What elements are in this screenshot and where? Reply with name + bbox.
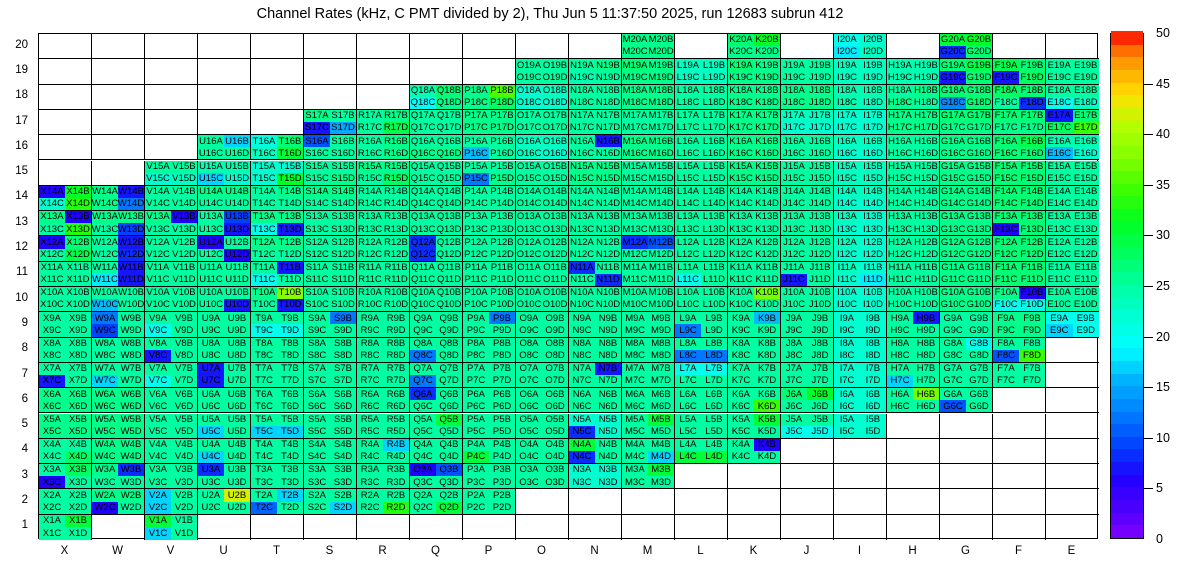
- heatmap-cell: F15AF15BF15CF15D: [993, 161, 1046, 186]
- channel-p14c: P14C: [463, 198, 489, 210]
- heatmap-cell: K7AK7BK7CK7D: [728, 363, 781, 388]
- channel-n5c: N5C: [569, 426, 595, 438]
- channel-r10c: R10C: [357, 299, 383, 311]
- channel-f18d: F18D: [1019, 97, 1045, 109]
- heatmap-cell: J15AJ15BJ15CJ15D: [781, 161, 834, 186]
- channel-n11d: N11D: [595, 274, 621, 286]
- colorbar-segment: [1111, 170, 1143, 184]
- channel-k19c: K19C: [728, 71, 754, 83]
- heatmap-cell: [887, 464, 940, 489]
- channel-n8c: N8C: [569, 350, 595, 362]
- heatmap-cell: M15AM15BM15CM15D: [622, 161, 675, 186]
- channel-g16d: G16D: [966, 147, 992, 159]
- heatmap-cell: R15AR15BR15CR15D: [357, 161, 410, 186]
- channel-p10d: P10D: [489, 299, 515, 311]
- channel-r9b: R9B: [383, 312, 409, 324]
- channel-r14b: R14B: [383, 186, 409, 198]
- heatmap-cell: U13AU13BU13CU13D: [198, 211, 251, 236]
- heatmap-cell: I20AI20BI20CI20D: [834, 34, 887, 59]
- channel-v4c: V4C: [145, 451, 171, 463]
- channel-u5c: U5C: [198, 426, 224, 438]
- channel-s11c: S11C: [304, 274, 330, 286]
- channel-u6b: U6B: [224, 388, 250, 400]
- channel-p9d: P9D: [489, 324, 515, 336]
- channel-n14b: N14B: [595, 186, 621, 198]
- channel-s3d: S3D: [330, 476, 356, 488]
- heatmap-cell: J7AJ7BJ7CJ7D: [781, 363, 834, 388]
- channel-h17d: H17D: [913, 122, 939, 134]
- channel-x3d: X3D: [65, 476, 91, 488]
- channel-r12a: R12A: [357, 236, 383, 248]
- channel-w13d: W13D: [118, 223, 144, 235]
- channel-f18b: F18B: [1019, 85, 1045, 97]
- heatmap-cell: [887, 515, 940, 540]
- y-tick-19: 19: [0, 64, 28, 76]
- channel-f7c: F7C: [993, 375, 1019, 387]
- channel-o11c: O11C: [516, 274, 542, 286]
- channel-l15b: L15B: [701, 161, 727, 173]
- heatmap-cell: U16AU16BU16CU16D: [198, 135, 251, 160]
- y-tick-13: 13: [0, 216, 28, 228]
- channel-u13a: U13A: [198, 211, 224, 223]
- heatmap-cell: J19AJ19BJ19CJ19D: [781, 59, 834, 84]
- heatmap-cell: [993, 515, 1046, 540]
- channel-v10c: V10C: [145, 299, 171, 311]
- colorbar-segment: [1111, 486, 1143, 500]
- channel-u3b: U3B: [224, 464, 250, 476]
- channel-k9c: K9C: [728, 324, 754, 336]
- channel-w14d: W14D: [118, 198, 144, 210]
- heatmap-cell: S4AS4BS4CS4D: [304, 439, 357, 464]
- channel-l11a: L11A: [675, 262, 701, 274]
- channel-j16b: J16B: [807, 135, 833, 147]
- channel-s4a: S4A: [304, 439, 330, 451]
- heatmap-cell: [728, 464, 781, 489]
- heatmap-cell: S6AS6BS6CS6D: [304, 388, 357, 413]
- channel-k11a: K11A: [728, 262, 754, 274]
- channel-s7c: S7C: [304, 375, 330, 387]
- channel-v1c: V1C: [145, 527, 171, 540]
- channel-t8d: T8D: [277, 350, 303, 362]
- channel-n14a: N14A: [569, 186, 595, 198]
- channel-p4b: P4B: [489, 439, 515, 451]
- channel-f15d: F15D: [1019, 173, 1045, 185]
- heatmap-cell: [675, 464, 728, 489]
- channel-j5b: J5B: [807, 414, 833, 426]
- heatmap-cell: S3AS3BS3CS3D: [304, 464, 357, 489]
- channel-e12b: E12B: [1073, 236, 1100, 248]
- channel-n15b: N15B: [595, 161, 621, 173]
- channel-g11b: G11B: [966, 262, 992, 274]
- channel-x5b: X5B: [65, 414, 91, 426]
- heatmap-cell: V5AV5BV5CV5D: [145, 414, 198, 439]
- channel-k17a: K17A: [728, 110, 754, 122]
- channel-t11d: T11D: [277, 274, 303, 286]
- channel-m6a: M6A: [622, 388, 648, 400]
- channel-u2d: U2D: [224, 502, 250, 514]
- channel-i11b: I11B: [860, 262, 886, 274]
- heatmap-cell: E9AE9BE9CE9D: [1046, 312, 1099, 337]
- heatmap-cell: F12AF12BF12CF12D: [993, 236, 1046, 261]
- channel-w4c: W4C: [92, 451, 118, 463]
- channel-g10d: G10D: [966, 299, 992, 311]
- channel-o10c: O10C: [516, 299, 542, 311]
- heatmap-cell: R11AR11BR11CR11D: [357, 262, 410, 287]
- channel-t6c: T6C: [251, 400, 277, 412]
- channel-i8d: I8D: [860, 350, 886, 362]
- heatmap-cell: J10AJ10BJ10CJ10D: [781, 287, 834, 312]
- heatmap-cell: S13AS13BS13CS13D: [304, 211, 357, 236]
- colorbar-segment: [1111, 208, 1143, 222]
- channel-t6b: T6B: [277, 388, 303, 400]
- heatmap-cell: R13AR13BR13CR13D: [357, 211, 410, 236]
- channel-r16b: R16B: [383, 135, 409, 147]
- channel-j8d: J8D: [807, 350, 833, 362]
- channel-s14d: S14D: [330, 198, 356, 210]
- channel-n19b: N19B: [595, 59, 621, 71]
- heatmap-cell: [781, 34, 834, 59]
- channel-k15b: K15B: [754, 161, 780, 173]
- channel-w14b: W14B: [118, 186, 144, 198]
- channel-t16c: T16C: [251, 147, 277, 159]
- channel-o8c: O8C: [516, 350, 542, 362]
- channel-u14a: U14A: [198, 186, 224, 198]
- heatmap-cell: W4AW4BW4CW4D: [92, 439, 145, 464]
- channel-x6c: X6C: [39, 400, 65, 412]
- heatmap-cell: [834, 515, 887, 540]
- heatmap-cell: [357, 515, 410, 540]
- channel-f9c: F9C: [993, 324, 1019, 336]
- x-tick-K: K: [727, 545, 780, 557]
- channel-k15d: K15D: [754, 173, 780, 185]
- heatmap-cell: U3AU3BU3CU3D: [198, 464, 251, 489]
- x-tick-N: N: [568, 545, 621, 557]
- channel-h16c: H16C: [887, 147, 913, 159]
- heatmap-cell: Q6AQ6BQ6CQ6D: [410, 388, 463, 413]
- channel-j19a: J19A: [781, 59, 807, 71]
- heatmap-cell: [357, 59, 410, 84]
- channel-m12c: M12C: [622, 249, 648, 261]
- heatmap-cell: G9AG9BG9CG9D: [940, 312, 993, 337]
- channel-o3a: O3A: [516, 464, 542, 476]
- channel-m10a: M10A: [622, 287, 648, 299]
- heatmap-cell: [92, 110, 145, 135]
- channel-w10a: W10A: [92, 287, 118, 299]
- channel-s13c: S13C: [304, 223, 330, 235]
- channel-t9d: T9D: [277, 324, 303, 336]
- heatmap-cell: [198, 515, 251, 540]
- channel-q4c: Q4C: [410, 451, 436, 463]
- channel-k16b: K16B: [754, 135, 780, 147]
- channel-p8c: P8C: [463, 350, 489, 362]
- channel-g14d: G14D: [966, 198, 992, 210]
- channel-w12b: W12B: [118, 236, 144, 248]
- channel-q2a: Q2A: [410, 489, 436, 501]
- channel-p4a: P4A: [463, 439, 489, 451]
- channel-i13d: I13D: [860, 223, 886, 235]
- channel-e10b: E10B: [1073, 287, 1100, 299]
- channel-h11c: H11C: [887, 274, 913, 286]
- heatmap-cell: I17AI17BI17CI17D: [834, 110, 887, 135]
- channel-u9b: U9B: [224, 312, 250, 324]
- channel-h8a: H8A: [887, 338, 913, 350]
- channel-i8a: I8A: [834, 338, 860, 350]
- channel-r15c: R15C: [357, 173, 383, 185]
- heatmap-cell: J11AJ11BJ11CJ11D: [781, 262, 834, 287]
- channel-p6c: P6C: [463, 400, 489, 412]
- channel-k16c: K16C: [728, 147, 754, 159]
- heatmap-cell: E11AE11BE11CE11D: [1046, 262, 1099, 287]
- channel-g7c: G7C: [940, 375, 966, 387]
- channel-m10c: M10C: [622, 299, 648, 311]
- channel-w7c: W7C: [92, 375, 118, 387]
- channel-i14b: I14B: [860, 186, 886, 198]
- channel-u4b: U4B: [224, 439, 250, 451]
- heatmap-cell: X5AX5BX5CX5D: [39, 414, 92, 439]
- channel-l19a: L19A: [675, 59, 701, 71]
- y-tick-8: 8: [0, 342, 28, 354]
- channel-i19a: I19A: [834, 59, 860, 71]
- channel-w12d: W12D: [118, 249, 144, 261]
- channel-v14b: V14B: [171, 186, 197, 198]
- channel-r9d: R9D: [383, 324, 409, 336]
- heatmap-cell: O15AO15BO15CO15D: [516, 161, 569, 186]
- channel-m19d: M19D: [648, 71, 674, 83]
- channel-t13b: T13B: [277, 211, 303, 223]
- channel-o6c: O6C: [516, 400, 542, 412]
- channel-q10c: Q10C: [410, 299, 436, 311]
- channel-j17b: J17B: [807, 110, 833, 122]
- channel-p8b: P8B: [489, 338, 515, 350]
- channel-g16c: G16C: [940, 147, 966, 159]
- channel-h17c: H17C: [887, 122, 913, 134]
- channel-l5a: L5A: [675, 414, 701, 426]
- channel-h15d: H15D: [913, 173, 939, 185]
- channel-e18c: E18C: [1046, 97, 1073, 109]
- channel-w3d: W3D: [118, 476, 144, 488]
- heatmap-cell: F19AF19BF19CF19D: [993, 59, 1046, 84]
- channel-v11d: V11D: [171, 274, 197, 286]
- channel-q11b: Q11B: [436, 262, 462, 274]
- channel-g6b: G6B: [966, 388, 992, 400]
- channel-t12c: T12C: [251, 249, 277, 261]
- channel-q3a: Q3A: [410, 464, 436, 476]
- channel-k7c: K7C: [728, 375, 754, 387]
- colorbar-gradient: [1110, 33, 1144, 539]
- channel-r11b: R11B: [383, 262, 409, 274]
- channel-m16d: M16D: [648, 147, 674, 159]
- channel-h9d: H9D: [913, 324, 939, 336]
- channel-i6d: I6D: [860, 400, 886, 412]
- channel-g10b: G10B: [966, 287, 992, 299]
- heatmap-cell: H6AH6BH6CH6D: [887, 388, 940, 413]
- channel-u6a: U6A: [198, 388, 224, 400]
- channel-o15d: O15D: [542, 173, 568, 185]
- channel-x5d: X5D: [65, 426, 91, 438]
- channel-j11b: J11B: [807, 262, 833, 274]
- channel-f13a: F13A: [993, 211, 1019, 223]
- channel-t14a: T14A: [251, 186, 277, 198]
- channel-f16b: F16B: [1019, 135, 1045, 147]
- channel-p17c: P17C: [463, 122, 489, 134]
- channel-r6a: R6A: [357, 388, 383, 400]
- channel-r5c: R5C: [357, 426, 383, 438]
- channel-o16d: O16D: [542, 147, 568, 159]
- channel-l12d: L12D: [701, 249, 727, 261]
- channel-l18a: L18A: [675, 85, 701, 97]
- heatmap-cell: S8AS8BS8CS8D: [304, 338, 357, 363]
- channel-m18a: M18A: [622, 85, 648, 97]
- channel-k11d: K11D: [754, 274, 780, 286]
- heatmap-cell: U12AU12BU12CU12D: [198, 236, 251, 261]
- channel-l8a: L8A: [675, 338, 701, 350]
- channel-j6d: J6D: [807, 400, 833, 412]
- channel-e14a: E14A: [1046, 186, 1073, 198]
- heatmap-cell: [304, 34, 357, 59]
- colorbar-segment: [1111, 81, 1143, 95]
- channel-h18d: H18D: [913, 97, 939, 109]
- y-tick-12: 12: [0, 241, 28, 253]
- channel-l4c: L4C: [675, 451, 701, 463]
- channel-m10d: M10D: [648, 299, 674, 311]
- channel-o12c: O12C: [516, 249, 542, 261]
- channel-o14a: O14A: [516, 186, 542, 198]
- heatmap-cell: P12AP12BP12CP12D: [463, 236, 516, 261]
- x-tick-O: O: [515, 545, 568, 557]
- colorbar-segment: [1111, 119, 1143, 133]
- heatmap-cell: Q8AQ8BQ8CQ8D: [410, 338, 463, 363]
- channel-s11a: S11A: [304, 262, 330, 274]
- channel-q7c: Q7C: [410, 375, 436, 387]
- channel-i8b: I8B: [860, 338, 886, 350]
- x-tick-H: H: [886, 545, 939, 557]
- channel-n13c: N13C: [569, 223, 595, 235]
- heatmap-cell: K13AK13BK13CK13D: [728, 211, 781, 236]
- channel-x12c: X12C: [39, 249, 65, 261]
- colorbar-segment: [1111, 461, 1143, 475]
- channel-i10c: I10C: [834, 299, 860, 311]
- heatmap-cell: Q5AQ5BQ5CQ5D: [410, 414, 463, 439]
- channel-h10b: H10B: [913, 287, 939, 299]
- x-tick-Q: Q: [409, 545, 462, 557]
- heatmap-cell: G15AG15BG15CG15D: [940, 161, 993, 186]
- heatmap-cell: I6AI6BI6CI6D: [834, 388, 887, 413]
- heatmap-cell: M20AM20BM20CM20D: [622, 34, 675, 59]
- y-tick-14: 14: [0, 190, 28, 202]
- channel-g19c: G19C: [940, 71, 966, 83]
- channel-t5c: T5C: [251, 426, 277, 438]
- heatmap-cell: Q7AQ7BQ7CQ7D: [410, 363, 463, 388]
- heatmap-cell: J14AJ14BJ14CJ14D: [781, 186, 834, 211]
- channel-p2b: P2B: [489, 489, 515, 501]
- y-axis: 2019181716151413121110987654321: [0, 33, 34, 539]
- y-tick-5: 5: [0, 418, 28, 430]
- channel-q12d: Q12D: [436, 249, 462, 261]
- channel-h17a: H17A: [887, 110, 913, 122]
- channel-g17d: G17D: [966, 122, 992, 134]
- channel-k20b: K20B: [754, 34, 780, 46]
- channel-i14a: I14A: [834, 186, 860, 198]
- channel-r13c: R13C: [357, 223, 383, 235]
- heatmap-cell: V10AV10BV10CV10D: [145, 287, 198, 312]
- channel-v15d: V15D: [171, 173, 197, 185]
- heatmap-cell: [993, 464, 1046, 489]
- heatmap-cell: R6AR6BR6CR6D: [357, 388, 410, 413]
- channel-n3b: N3B: [595, 464, 621, 476]
- channel-e18b: E18B: [1073, 85, 1100, 97]
- channel-f11c: F11C: [993, 274, 1019, 286]
- channel-m6d: M6D: [648, 400, 674, 412]
- channel-x10c: X10C: [39, 299, 65, 311]
- heatmap-cell: T10AT10BT10CT10D: [251, 287, 304, 312]
- channel-m12b: M12B: [648, 236, 674, 248]
- channel-p12d: P12D: [489, 249, 515, 261]
- channel-i20b: I20B: [860, 34, 886, 46]
- heatmap-cell: X10AX10BX10CX10D: [39, 287, 92, 312]
- channel-x6a: X6A: [39, 388, 65, 400]
- channel-t5a: T5A: [251, 414, 277, 426]
- heatmap-cell: M12AM12BM12CM12D: [622, 236, 675, 261]
- channel-p14d: P14D: [489, 198, 515, 210]
- colorbar-segment: [1111, 423, 1143, 437]
- channel-m12d: M12D: [648, 249, 674, 261]
- channel-t3b: T3B: [277, 464, 303, 476]
- channel-q16b: Q16B: [436, 135, 462, 147]
- channel-p2a: P2A: [463, 489, 489, 501]
- heatmap-cell: Q12AQ12BQ12CQ12D: [410, 236, 463, 261]
- heatmap-cell: N19AN19BN19CN19D: [569, 59, 622, 84]
- channel-q9d: Q9D: [436, 324, 462, 336]
- channel-p16c: P16C: [463, 147, 489, 159]
- channel-k17b: K17B: [754, 110, 780, 122]
- x-tick-M: M: [621, 545, 674, 557]
- channel-t15c: T15C: [251, 173, 277, 185]
- channel-s14b: S14B: [330, 186, 356, 198]
- channel-i5b: I5B: [860, 414, 886, 426]
- heatmap-cell: [1046, 388, 1099, 413]
- channel-t15b: T15B: [277, 161, 303, 173]
- channel-l12b: L12B: [701, 236, 727, 248]
- heatmap-cell: [463, 59, 516, 84]
- channel-n6b: N6B: [595, 388, 621, 400]
- channel-h7a: H7A: [887, 363, 913, 375]
- channel-o9d: O9D: [542, 324, 568, 336]
- channel-n12d: N12D: [595, 249, 621, 261]
- channel-e15b: E15B: [1073, 161, 1100, 173]
- channel-w11b: W11B: [118, 262, 144, 274]
- channel-v6c: V6C: [145, 400, 171, 412]
- heatmap-cell: I15AI15BI15CI15D: [834, 161, 887, 186]
- channel-q16a: Q16A: [410, 135, 436, 147]
- heatmap-cell: N9AN9BN9CN9D: [569, 312, 622, 337]
- channel-p5c: P5C: [463, 426, 489, 438]
- channel-h19b: H19B: [913, 59, 939, 71]
- channel-s13d: S13D: [330, 223, 356, 235]
- heatmap-cell: N6AN6BN6CN6D: [569, 388, 622, 413]
- channel-m15b: M15B: [648, 161, 674, 173]
- colorbar-segment: [1111, 145, 1143, 159]
- heatmap-cell: J16AJ16BJ16CJ16D: [781, 135, 834, 160]
- y-tick-2: 2: [0, 494, 28, 506]
- colorbar-tick: [1144, 235, 1153, 236]
- y-tick-1: 1: [0, 519, 28, 531]
- heatmap-cell: K10AK10BK10CK10D: [728, 287, 781, 312]
- heatmap-cell: E15AE15BE15CE15D: [1046, 161, 1099, 186]
- channel-f17d: F17D: [1019, 122, 1045, 134]
- channel-s4d: S4D: [330, 451, 356, 463]
- channel-e19c: E19C: [1046, 71, 1073, 83]
- channel-s14a: S14A: [304, 186, 330, 198]
